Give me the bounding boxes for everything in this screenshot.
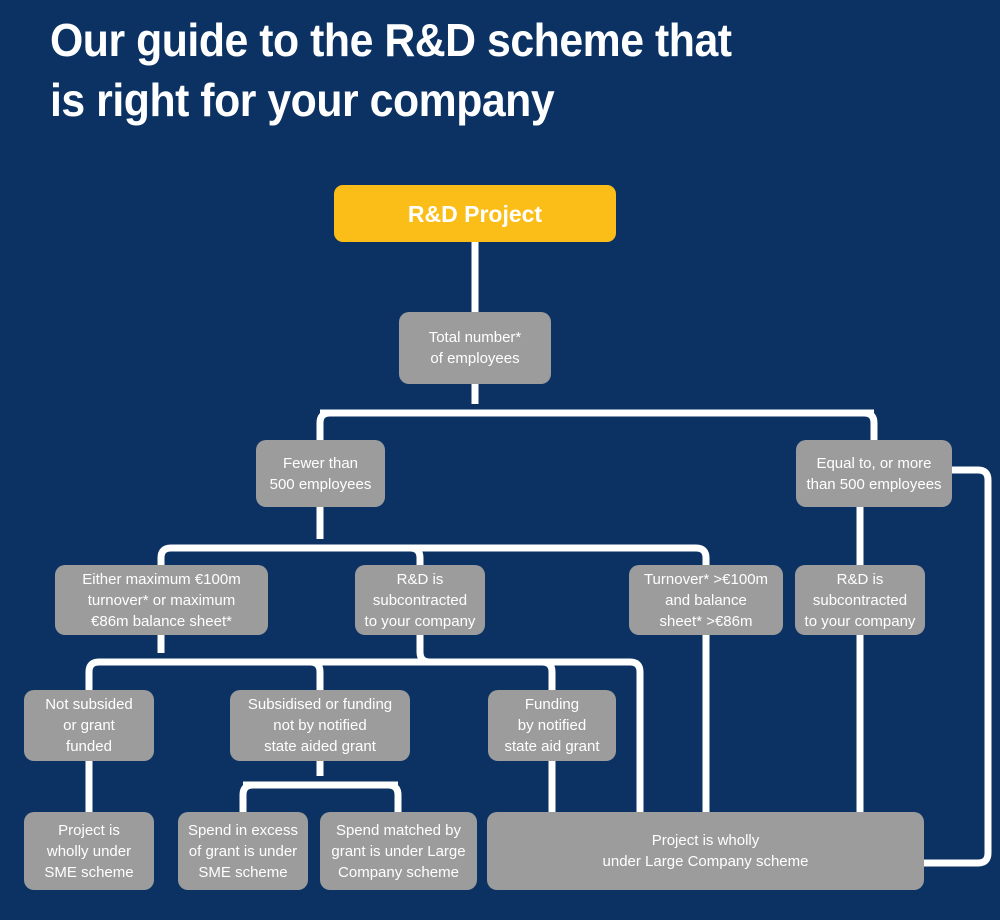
edge-fewer500-large-thresholds bbox=[320, 548, 706, 565]
edge-subsidised-excess-sme bbox=[243, 785, 320, 812]
node-sme-subcontracted[interactable]: R&D is subcontracted to your company bbox=[355, 565, 485, 635]
flowchart-canvas: Our guide to the R&D scheme that is righ… bbox=[0, 0, 1000, 920]
edge-fewer500-sme-thresholds bbox=[161, 548, 320, 565]
node-outcome-sme-wholly-label: Project is wholly under SME scheme bbox=[44, 820, 133, 883]
node-fewer-than-500-label: Fewer than 500 employees bbox=[270, 453, 372, 495]
node-large-thresholds-label: Turnover* >€100m and balance sheet* >€86… bbox=[644, 569, 768, 632]
node-large-thresholds[interactable]: Turnover* >€100m and balance sheet* >€86… bbox=[629, 565, 783, 635]
node-not-subsided-label: Not subsided or grant funded bbox=[45, 694, 133, 757]
edge-employees-fewer500 bbox=[320, 413, 475, 440]
node-sme-thresholds[interactable]: Either maximum €100m turnover* or maximu… bbox=[55, 565, 268, 635]
node-not-subsided[interactable]: Not subsided or grant funded bbox=[24, 690, 154, 761]
node-employees[interactable]: Total number* of employees bbox=[399, 312, 551, 384]
node-outcome-matched-large-label: Spend matched by grant is under Large Co… bbox=[331, 820, 465, 883]
edge-employees-equal500 bbox=[475, 413, 874, 440]
node-outcome-matched-large[interactable]: Spend matched by grant is under Large Co… bbox=[320, 812, 477, 890]
node-outcome-excess-sme-label: Spend in excess of grant is under SME sc… bbox=[188, 820, 298, 883]
node-notified-state-aid-label: Funding by notified state aid grant bbox=[504, 694, 599, 757]
edge-sme-thresholds-subsidised bbox=[161, 662, 320, 690]
edge-sme-thresholds-notified-aid bbox=[161, 662, 552, 690]
node-equal-or-more-500[interactable]: Equal to, or more than 500 employees bbox=[796, 440, 952, 507]
node-outcome-excess-sme[interactable]: Spend in excess of grant is under SME sc… bbox=[178, 812, 308, 890]
node-large-subcontracted[interactable]: R&D is subcontracted to your company bbox=[795, 565, 925, 635]
node-sme-thresholds-label: Either maximum €100m turnover* or maximu… bbox=[82, 569, 240, 632]
node-root[interactable]: R&D Project bbox=[334, 185, 616, 242]
node-outcome-large-wholly-label: Project is wholly under Large Company sc… bbox=[603, 830, 809, 872]
node-subsidised-not-notified[interactable]: Subsidised or funding not by notified st… bbox=[230, 690, 410, 761]
edge-subsidised-matched-large bbox=[320, 785, 398, 812]
node-employees-label: Total number* of employees bbox=[429, 327, 522, 369]
node-outcome-large-wholly[interactable]: Project is wholly under Large Company sc… bbox=[487, 812, 924, 890]
node-notified-state-aid[interactable]: Funding by notified state aid grant bbox=[488, 690, 616, 761]
node-outcome-sme-wholly[interactable]: Project is wholly under SME scheme bbox=[24, 812, 154, 890]
node-root-label: R&D Project bbox=[408, 200, 542, 228]
edge-sme-thresholds-not-subsided bbox=[89, 662, 161, 690]
edge-equal500-large-wholly bbox=[924, 470, 988, 863]
node-sme-subcontracted-label: R&D is subcontracted to your company bbox=[365, 569, 476, 632]
node-fewer-than-500[interactable]: Fewer than 500 employees bbox=[256, 440, 385, 507]
node-subsidised-not-notified-label: Subsidised or funding not by notified st… bbox=[248, 694, 392, 757]
node-equal-or-more-500-label: Equal to, or more than 500 employees bbox=[806, 453, 941, 495]
node-large-subcontracted-label: R&D is subcontracted to your company bbox=[805, 569, 916, 632]
